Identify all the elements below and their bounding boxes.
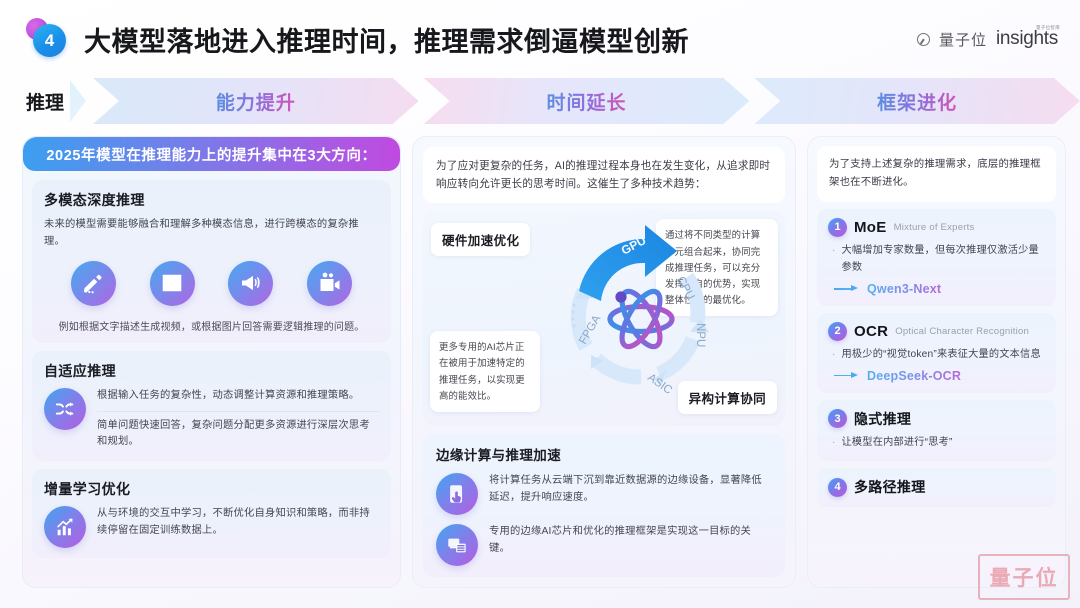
edge-item-1-text: 将计算任务从云端下沉到靠近数据源的边缘设备，显著降低延迟，提升响应速度。 [489,473,772,506]
image-icon [150,261,195,306]
server-chip-icon [436,524,478,566]
compute-cycle-ring: GPU CPU NPU ASIC FPGA [541,219,741,419]
multimodal-desc: 未来的模型需要能够融合和理解多种模态信息，进行跨模态的复杂推理。 [44,217,379,251]
bullet-dot-icon: · [832,435,836,452]
panel-framework-evolution: 为了支持上述复杂的推理需求，底层的推理框架也在不断进化。 1 MoE Mixtu… [807,136,1066,588]
moe-link-row[interactable]: Qwen3-Next [828,282,1045,296]
chevron-step-3-label: 框架进化 [877,88,957,115]
chevron-lead-arrow-icon [66,78,88,124]
adaptive-text: 根据输入任务的复杂性，动态调整计算资源和推理策略。 简单问题快速回答，复杂问题分… [97,388,379,451]
arrow-right-icon [834,284,860,294]
bullet-dot-icon: · [832,243,836,277]
ocr-link-row[interactable]: DeepSeek-OCR [828,369,1045,383]
edge-title: 边缘计算与推理加速 [436,444,772,464]
chevron-step-3[interactable]: 框架进化 [754,78,1080,124]
capability-banner: 2025年模型在推理能力上的提升集中在3大方向： [23,137,400,171]
moe-subtitle: Mixture of Experts [894,222,975,233]
multimodal-icon-row [44,251,379,312]
implicit-name: 隐式推理 [854,409,911,429]
edge-item-2: 专用的边缘AI芯片和优化的推理框架是实现这一目标的关键。 [436,524,772,566]
multipath-name: 多路径推理 [854,477,926,497]
multimodal-caption: 例如根据文字描述生成视频，或根据图片回答需要逻辑推理的问题。 [44,312,379,333]
panel-capability: 2025年模型在推理能力上的提升集中在3大方向： 多模态深度推理 未来的模型需要… [22,136,401,588]
multipath-head: 4 多路径推理 [828,477,1045,497]
chevron-step-2-label: 时间延长 [546,88,626,115]
moe-link-label: Qwen3-Next [867,282,941,296]
page-header: 4 大模型落地进入推理时间，推理需求倒逼模型创新 量子位 insights 量子… [0,0,1080,78]
hardware-ring-diagram: 硬件加速优化 异构计算协同 通过将不同类型的计算单元组合起来，协同完成推理任务，… [423,211,785,426]
panel-time-extension: 为了应对更复杂的任务，AI的推理过程本身也在发生变化，从追求即时响应转向允许更长… [412,136,796,588]
svg-text:NPU: NPU [694,323,706,347]
ocr-subtitle: Optical Character Recognition [895,326,1029,337]
framework-card-multipath: 4 多路径推理 [817,468,1056,507]
implicit-number-badge: 3 [828,409,847,428]
ocr-bullet: · 用极少的“视觉token”来表征大量的文本信息 [828,347,1045,364]
moe-number-badge: 1 [828,218,847,237]
incremental-row: 从与环境的交互中学习，不断优化自身知识和策略，而非持续停留在固定训练数据上。 [44,506,379,548]
note-ai-chips: 更多专用的AI芯片正在被用于加速特定的推理任务，以实现更高的能效比。 [430,331,540,412]
bullet-dot-icon: · [832,347,836,364]
implicit-bullet-text: 让模型在内部进行“思考” [842,435,953,452]
growth-chart-icon [44,506,86,548]
chevron-lead-label: 推理 [26,78,66,124]
right-intro-text: 为了支持上述复杂的推理需求，底层的推理框架也在不断进化。 [817,146,1056,202]
ocr-bullet-text: 用极少的“视觉token”来表征大量的文本信息 [842,347,1041,364]
badge-number: 4 [33,24,66,57]
edge-item-2-text: 专用的边缘AI芯片和优化的推理框架是实现这一目标的关键。 [489,524,772,557]
adaptive-row: 根据输入任务的复杂性，动态调整计算资源和推理策略。 简单问题快速回答，复杂问题分… [44,388,379,451]
ocr-number-badge: 2 [828,322,847,341]
moe-bullet: · 大幅增加专家数量，但每次推理仅激活少量参数 [828,243,1045,277]
ocr-head: 2 OCR Optical Character Recognition [828,322,1045,341]
adaptive-line-1: 根据输入任务的复杂性，动态调整计算资源和推理策略。 [97,388,379,405]
chevron-step-1-label: 能力提升 [216,88,296,115]
video-camera-icon [307,261,352,306]
arrow-right-icon [834,371,860,381]
capability-card-adaptive: 自适应推理 根据输入任务的复杂性，动态调整计算资源和推理策略。 简单问题快速回答… [32,351,391,461]
adaptive-title: 自适应推理 [44,361,379,381]
implicit-bullet: · 让模型在内部进行“思考” [828,435,1045,452]
moe-bullet-text: 大幅增加专家数量，但每次推理仅激活少量参数 [842,243,1045,277]
framework-card-ocr: 2 OCR Optical Character Recognition · 用极… [817,313,1056,393]
content-columns: 2025年模型在推理能力上的提升集中在3大方向： 多模态深度推理 未来的模型需要… [0,136,1080,588]
brand-name-cn: 量子位 [939,29,987,50]
capability-body: 多模态深度推理 未来的模型需要能够融合和理解多种模态信息，进行跨模态的复杂推理。 [23,171,400,587]
middle-intro-text: 为了应对更复杂的任务，AI的推理过程本身也在发生变化，从追求即时响应转向允许更长… [423,147,785,203]
tag-hardware-acceleration: 硬件加速优化 [431,223,530,256]
pencil-icon [71,261,116,306]
multimodal-title: 多模态深度推理 [44,190,379,210]
brand-name-en: insights 量子位智库 [996,28,1058,50]
page-title: 大模型落地进入推理时间，推理需求倒逼模型创新 [84,20,689,59]
incremental-text: 从与环境的交互中学习，不断优化自身知识和策略，而非持续停留在固定训练数据上。 [97,506,379,539]
quantumbit-ring-icon [917,33,930,46]
section-badge: 4 [26,17,70,61]
framework-card-moe: 1 MoE Mixture of Experts · 大幅增加专家数量，但每次推… [817,209,1056,306]
ocr-link-label: DeepSeek-OCR [867,369,961,383]
tablet-touch-icon [436,473,478,515]
divider [97,411,379,412]
multipath-number-badge: 4 [828,478,847,497]
ocr-name: OCR [854,323,888,340]
process-chevron-bar: 推理 能力提升 时间延长 框架进化 [0,78,1080,124]
brand-insights-text: insights [996,28,1058,49]
capability-card-incremental: 增量学习优化 从与环境的交互中学习，不断优化自身知识和策略，而非持续停留在固定训… [32,469,391,558]
megaphone-icon [228,261,273,306]
incremental-title: 增量学习优化 [44,479,379,499]
chevron-step-2[interactable]: 时间延长 [424,78,750,124]
implicit-head: 3 隐式推理 [828,409,1045,429]
moe-name: MoE [854,219,887,236]
capability-card-multimodal: 多模态深度推理 未来的模型需要能够融合和理解多种模态信息，进行跨模态的复杂推理。 [32,180,391,343]
shuffle-icon [44,388,86,430]
framework-card-implicit: 3 隐式推理 · 让模型在内部进行“思考” [817,400,1056,462]
brand-logo: 量子位 insights 量子位智库 [917,28,1058,50]
chevron-step-1[interactable]: 能力提升 [93,78,419,124]
moe-head: 1 MoE Mixture of Experts [828,218,1045,237]
edge-computing-card: 边缘计算与推理加速 将计算任务从云端下沉到靠近数据源的边缘设备，显著降低延迟，提… [423,434,785,577]
brand-superscript: 量子位智库 [1036,25,1060,31]
edge-item-1: 将计算任务从云端下沉到靠近数据源的边缘设备，显著降低延迟，提升响应速度。 [436,473,772,515]
incremental-line-1: 从与环境的交互中学习，不断优化自身知识和策略，而非持续停留在固定训练数据上。 [97,506,379,539]
adaptive-line-2: 简单问题快速回答，复杂问题分配更多资源进行深层次思考和规划。 [97,418,379,451]
